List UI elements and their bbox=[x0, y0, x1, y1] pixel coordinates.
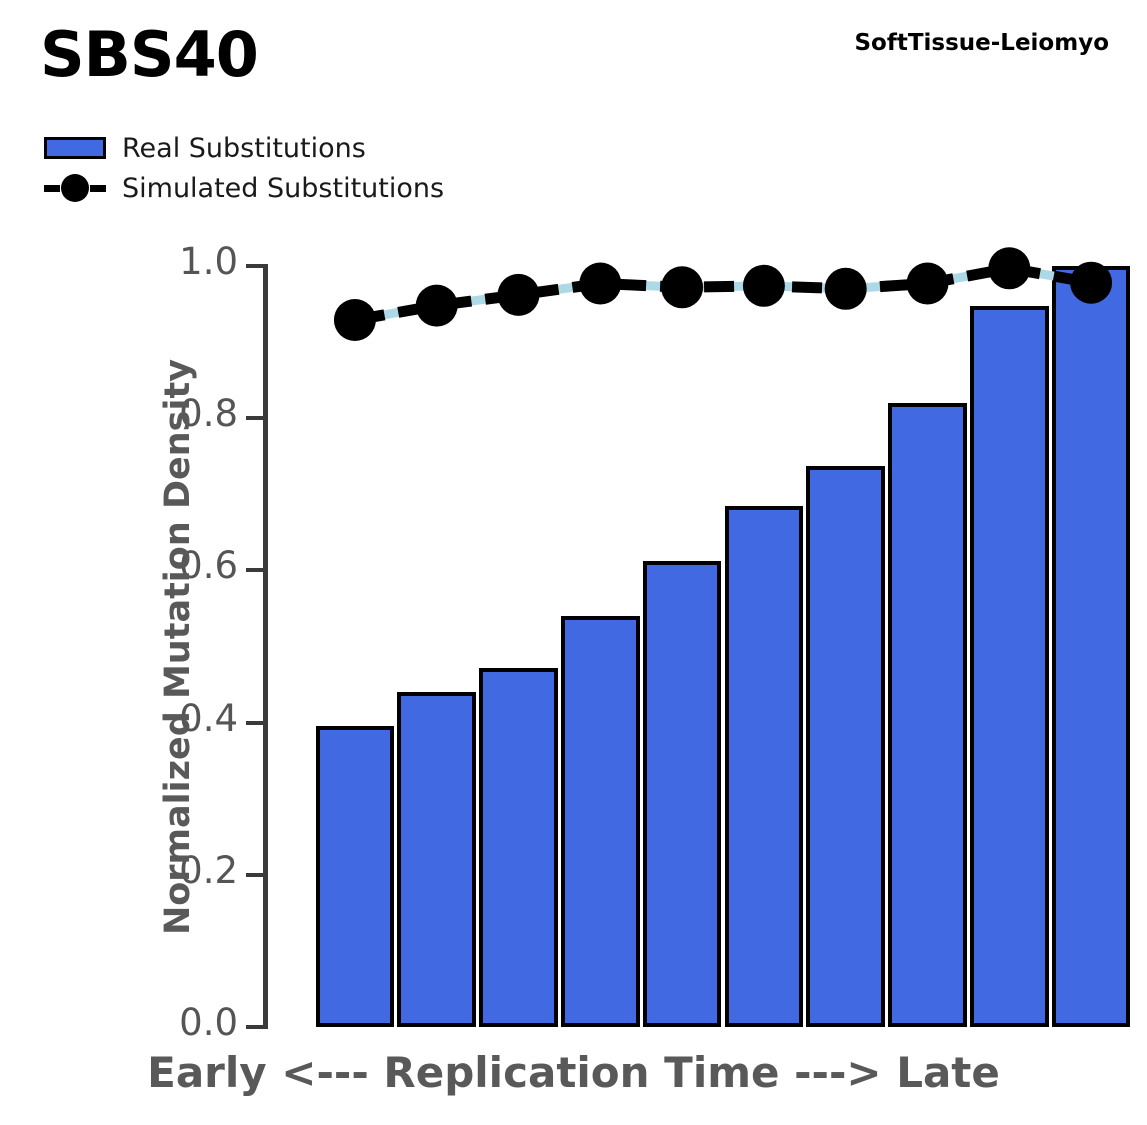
y-axis-tick-label: 0.2 bbox=[58, 849, 238, 892]
bar bbox=[725, 506, 804, 1027]
bar bbox=[806, 466, 885, 1027]
plot-area: 0.00.20.40.60.81.0 Normalized Mutation D… bbox=[268, 266, 1086, 1027]
y-axis-tick-label: 0.0 bbox=[58, 1001, 238, 1044]
y-axis-tick bbox=[246, 416, 264, 420]
legend-item-real-substitutions[interactable]: Real Substitutions bbox=[44, 128, 564, 168]
y-axis-tick-label: 0.6 bbox=[58, 544, 238, 587]
line-marker bbox=[498, 274, 540, 316]
line-marker bbox=[416, 285, 458, 327]
bar-swatch-icon bbox=[44, 137, 106, 159]
y-axis-label: Normalized Mutation Density bbox=[158, 358, 198, 934]
line-circle-icon bbox=[44, 173, 106, 203]
y-axis-spine bbox=[263, 264, 268, 1029]
bar bbox=[888, 403, 967, 1027]
y-axis-tick bbox=[246, 721, 264, 725]
bar bbox=[397, 692, 476, 1027]
legend-item-simulated-substitutions[interactable]: Simulated Substitutions bbox=[44, 168, 564, 208]
line-marker bbox=[988, 247, 1030, 289]
legend-item-label: Real Substitutions bbox=[122, 133, 366, 164]
bar bbox=[316, 726, 395, 1027]
x-axis-label: Early <--- Replication Time ---> Late bbox=[0, 1048, 1147, 1097]
bar bbox=[970, 306, 1049, 1027]
bar bbox=[479, 668, 558, 1027]
sample-label: SoftTissue-Leiomyo bbox=[854, 30, 1109, 56]
page-title: SBS40 bbox=[40, 24, 258, 86]
y-axis-tick bbox=[246, 568, 264, 572]
line-marker bbox=[743, 265, 785, 307]
bar bbox=[643, 561, 722, 1027]
y-axis-tick bbox=[246, 264, 264, 268]
y-axis-tick bbox=[246, 1025, 264, 1029]
y-axis-tick bbox=[246, 873, 264, 877]
chart-legend: Real Substitutions Simulated Substitutio… bbox=[44, 128, 564, 208]
y-axis-tick-label: 0.4 bbox=[58, 697, 238, 740]
y-axis-tick-label: 0.8 bbox=[58, 392, 238, 435]
line-marker bbox=[825, 268, 867, 310]
line-marker bbox=[661, 266, 703, 308]
legend-item-label: Simulated Substitutions bbox=[122, 173, 444, 204]
bar bbox=[1052, 266, 1131, 1027]
line-marker bbox=[907, 263, 949, 305]
y-axis-tick-label: 1.0 bbox=[58, 240, 238, 283]
line-marker bbox=[334, 299, 376, 341]
line-marker bbox=[579, 263, 621, 305]
replication-timing-chart: SBS40 SoftTissue-Leiomyo Real Substituti… bbox=[0, 0, 1147, 1125]
bar bbox=[561, 616, 640, 1027]
